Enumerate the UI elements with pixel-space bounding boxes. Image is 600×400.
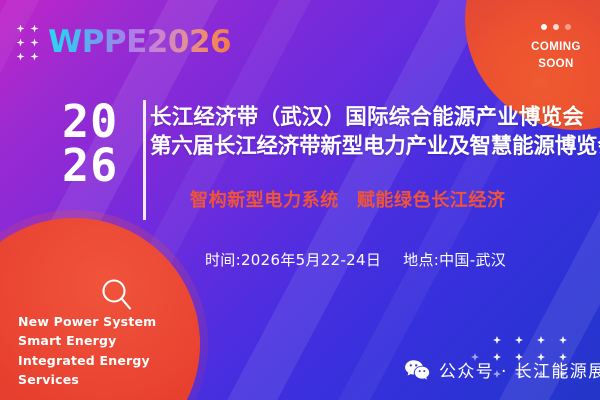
brand-logo[interactable]: WPPE2026 xyxy=(14,22,231,63)
logo-wordmark: WPPE2026 xyxy=(48,27,231,58)
slogan-part1: 智构新型电力系统 xyxy=(190,190,339,211)
wechat-icon xyxy=(404,359,430,381)
event-meta: 时间:2026年5月22-24日地点:中国-武汉 xyxy=(205,249,506,270)
keyword-line4: Services xyxy=(18,370,156,389)
keyword-line3: Integrated Energy xyxy=(18,351,156,370)
wechat-account-row[interactable]: 公众号 · 长江能源展 xyxy=(404,357,600,382)
vertical-divider xyxy=(143,100,146,220)
event-title-line1: 长江经济带（武汉）国际综合能源产业博览会 xyxy=(150,104,600,133)
coming-soon-line2: SOON xyxy=(520,56,592,73)
event-date: 时间:2026年5月22-24日 xyxy=(205,251,381,269)
year-display: 20 26 xyxy=(62,100,140,188)
year-bottom: 26 xyxy=(62,144,140,188)
event-slogan: 智构新型电力系统赋能绿色长江经济 xyxy=(190,186,506,212)
slogan-part2: 赋能绿色长江经济 xyxy=(357,190,506,211)
coming-soon-block: COMING SOON xyxy=(520,24,592,72)
keyword-line1: New Power System xyxy=(18,312,156,331)
logo-dot-grid-icon xyxy=(14,22,41,63)
magnifier-icon xyxy=(100,278,134,312)
coming-soon-line1: COMING xyxy=(520,39,592,56)
keyword-line2: Smart Energy xyxy=(18,331,156,350)
event-location: 地点:中国-武汉 xyxy=(403,251,506,269)
coming-soon-dots-icon xyxy=(520,24,592,30)
english-keyword-list: New Power System Smart Energy Integrated… xyxy=(18,312,156,390)
event-title: 长江经济带（武汉）国际综合能源产业博览会 第六届长江经济带新型电力产业及智慧能源… xyxy=(150,104,600,162)
year-top: 20 xyxy=(62,100,140,144)
event-title-line2: 第六届长江经济带新型电力产业及智慧能源博览会 xyxy=(150,133,600,162)
wechat-account-label: 公众号 · 长江能源展 xyxy=(439,357,600,382)
event-banner: WPPE2026 COMING SOON 20 26 长江经济带（武汉）国际综合… xyxy=(0,0,600,400)
